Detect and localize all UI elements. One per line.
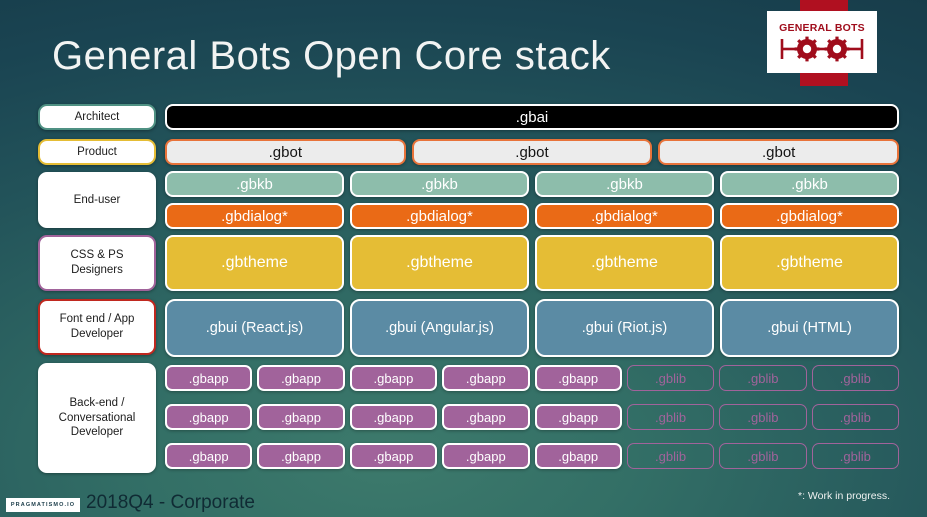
cell-label: .gblib bbox=[747, 410, 778, 425]
pragmatismo-wordmark: PRAGMATISMO.IO bbox=[11, 502, 75, 508]
role-label-line1: Back-end / bbox=[59, 396, 136, 411]
stack-cell-gbkb-1[interactable]: .gbkb bbox=[165, 171, 344, 197]
cell-label: .gbot bbox=[515, 144, 548, 161]
cell-label: .gbtheme bbox=[406, 254, 473, 272]
cell-label: .gbtheme bbox=[776, 254, 843, 272]
stack-cell-gbapp-3-3[interactable]: .gbapp bbox=[350, 443, 437, 469]
stack-cell-gbapp-3-1[interactable]: .gbapp bbox=[165, 443, 252, 469]
cell-label: .gbai bbox=[516, 109, 549, 126]
stack-cell-gbapp-1-2[interactable]: .gbapp bbox=[257, 365, 344, 391]
stack-cell-gbdialog-4[interactable]: .gbdialog* bbox=[720, 203, 899, 229]
stack-cell-gbapp-1-4[interactable]: .gbapp bbox=[442, 365, 529, 391]
sidebar-item-back-end-conversational-developer[interactable]: Back-end / Conversational Developer bbox=[38, 363, 156, 473]
cell-label: .gblib bbox=[747, 449, 778, 464]
cell-label: .gbot bbox=[762, 144, 795, 161]
stack-cell-gbui-3[interactable]: .gbui (Riot.js) bbox=[535, 299, 714, 357]
stack-cell-gblib-2-1[interactable]: .gblib bbox=[627, 404, 714, 430]
cell-label: .gblib bbox=[655, 449, 686, 464]
cell-label: .gbapp bbox=[374, 371, 414, 386]
stack-cell-gbapp-1-1[interactable]: .gbapp bbox=[165, 365, 252, 391]
stack-cell-gbapp-2-3[interactable]: .gbapp bbox=[350, 404, 437, 430]
stack-cell-gbtheme-1[interactable]: .gbtheme bbox=[165, 235, 344, 291]
pragmatismo-logo: PRAGMATISMO.IO bbox=[6, 498, 80, 512]
stack-cell-gbapp-3-4[interactable]: .gbapp bbox=[442, 443, 529, 469]
stack-cell-gbdialog-2[interactable]: .gbdialog* bbox=[350, 203, 529, 229]
stack-cell-gbtheme-3[interactable]: .gbtheme bbox=[535, 235, 714, 291]
cell-label: .gbapp bbox=[281, 449, 321, 464]
stack-cell-gblib-3-1[interactable]: .gblib bbox=[627, 443, 714, 469]
cell-label: .gblib bbox=[655, 371, 686, 386]
sidebar-item-front-end-app-developer[interactable]: Font end / App Developer bbox=[38, 299, 156, 355]
sidebar-item-css-ps-designers[interactable]: CSS & PS Designers bbox=[38, 235, 156, 291]
stack-cell-gbapp-1-3[interactable]: .gbapp bbox=[350, 365, 437, 391]
cell-label: .gbapp bbox=[189, 371, 229, 386]
cell-label: .gbapp bbox=[558, 410, 598, 425]
cell-label: .gbapp bbox=[466, 371, 506, 386]
cell-label: .gblib bbox=[840, 449, 871, 464]
cell-label: .gbkb bbox=[606, 176, 643, 193]
cell-label: .gblib bbox=[840, 410, 871, 425]
cell-label: .gbkb bbox=[421, 176, 458, 193]
cell-label: .gblib bbox=[840, 371, 871, 386]
stack-cell-gbui-2[interactable]: .gbui (Angular.js) bbox=[350, 299, 529, 357]
gears-icon bbox=[778, 36, 866, 62]
stack-cell-gbui-1[interactable]: .gbui (React.js) bbox=[165, 299, 344, 357]
role-label: End-user bbox=[74, 193, 121, 208]
role-label: Architect bbox=[75, 110, 120, 125]
cell-label: .gblib bbox=[747, 371, 778, 386]
stack-cell-gblib-2-2[interactable]: .gblib bbox=[719, 404, 806, 430]
work-in-progress-note: *: Work in progress. bbox=[798, 490, 890, 502]
logo-wordmark: GENERAL BOTS bbox=[779, 22, 865, 34]
cell-label: .gbui (React.js) bbox=[206, 320, 304, 336]
cell-label: .gbui (Angular.js) bbox=[385, 320, 494, 336]
cell-label: .gbdialog* bbox=[591, 208, 658, 225]
slide-canvas: General Bots Open Core stack GENERAL BOT… bbox=[0, 0, 927, 517]
stack-cell-gblib-3-3[interactable]: .gblib bbox=[812, 443, 899, 469]
role-label-line1: CSS & PS bbox=[70, 248, 123, 263]
cell-label: .gbapp bbox=[281, 410, 321, 425]
cell-label: .gbtheme bbox=[221, 254, 288, 272]
stack-cell-gbapp-3-5[interactable]: .gbapp bbox=[535, 443, 622, 469]
stack-cell-gbot-3[interactable]: .gbot bbox=[658, 139, 899, 165]
stack-cell-gbkb-3[interactable]: .gbkb bbox=[535, 171, 714, 197]
cell-label: .gbapp bbox=[281, 371, 321, 386]
cell-label: .gbui (HTML) bbox=[767, 320, 852, 336]
stack-cell-gbdialog-1[interactable]: .gbdialog* bbox=[165, 203, 344, 229]
cell-label: .gbdialog* bbox=[221, 208, 288, 225]
cell-label: .gbapp bbox=[189, 449, 229, 464]
role-label-line3: Developer bbox=[59, 425, 136, 440]
logo-card: GENERAL BOTS bbox=[767, 11, 877, 73]
cell-label: .gbkb bbox=[791, 176, 828, 193]
cell-label: .gbapp bbox=[466, 449, 506, 464]
sidebar-item-product[interactable]: Product bbox=[38, 139, 156, 165]
page-title: General Bots Open Core stack bbox=[52, 34, 611, 79]
stack-cell-gblib-1-1[interactable]: .gblib bbox=[627, 365, 714, 391]
role-label: Product bbox=[77, 145, 117, 160]
stack-cell-gbapp-1-5[interactable]: .gbapp bbox=[535, 365, 622, 391]
role-label-line1: Font end / App bbox=[60, 312, 135, 327]
stack-cell-gbapp-2-4[interactable]: .gbapp bbox=[442, 404, 529, 430]
stack-cell-gbai[interactable]: .gbai bbox=[165, 104, 899, 130]
cell-label: .gbtheme bbox=[591, 254, 658, 272]
stack-cell-gbapp-3-2[interactable]: .gbapp bbox=[257, 443, 344, 469]
stack-cell-gbot-1[interactable]: .gbot bbox=[165, 139, 406, 165]
role-label-line2: Conversational bbox=[59, 411, 136, 426]
cell-label: .gbkb bbox=[236, 176, 273, 193]
cell-label: .gbapp bbox=[466, 410, 506, 425]
sidebar-item-architect[interactable]: Architect bbox=[38, 104, 156, 130]
stack-cell-gblib-2-3[interactable]: .gblib bbox=[812, 404, 899, 430]
stack-cell-gbkb-2[interactable]: .gbkb bbox=[350, 171, 529, 197]
footer-caption: 2018Q4 - Corporate bbox=[86, 492, 255, 514]
cell-label: .gbapp bbox=[558, 449, 598, 464]
sidebar-item-end-user[interactable]: End-user bbox=[38, 172, 156, 228]
cell-label: .gbapp bbox=[189, 410, 229, 425]
cell-label: .gbdialog* bbox=[776, 208, 843, 225]
stack-cell-gblib-3-2[interactable]: .gblib bbox=[719, 443, 806, 469]
stack-cell-gbkb-4[interactable]: .gbkb bbox=[720, 171, 899, 197]
stack-cell-gblib-1-3[interactable]: .gblib bbox=[812, 365, 899, 391]
cell-label: .gbapp bbox=[374, 410, 414, 425]
cell-label: .gbapp bbox=[374, 449, 414, 464]
role-label-line2: Developer bbox=[60, 327, 135, 342]
stack-cell-gbapp-2-1[interactable]: .gbapp bbox=[165, 404, 252, 430]
stack-cell-gbapp-2-2[interactable]: .gbapp bbox=[257, 404, 344, 430]
cell-label: .gbui (Riot.js) bbox=[582, 320, 667, 336]
cell-label: .gblib bbox=[655, 410, 686, 425]
stack-cell-gbtheme-4[interactable]: .gbtheme bbox=[720, 235, 899, 291]
role-label-line2: Designers bbox=[70, 263, 123, 278]
cell-label: .gbapp bbox=[558, 371, 598, 386]
cell-label: .gbot bbox=[269, 144, 302, 161]
cell-label: .gbdialog* bbox=[406, 208, 473, 225]
stack-cell-gbui-4[interactable]: .gbui (HTML) bbox=[720, 299, 899, 357]
stack-cell-gbot-2[interactable]: .gbot bbox=[412, 139, 653, 165]
stack-cell-gbtheme-2[interactable]: .gbtheme bbox=[350, 235, 529, 291]
stack-cell-gbapp-2-5[interactable]: .gbapp bbox=[535, 404, 622, 430]
stack-cell-gblib-1-2[interactable]: .gblib bbox=[719, 365, 806, 391]
general-bots-logo: GENERAL BOTS bbox=[767, 0, 882, 90]
stack-cell-gbdialog-3[interactable]: .gbdialog* bbox=[535, 203, 714, 229]
